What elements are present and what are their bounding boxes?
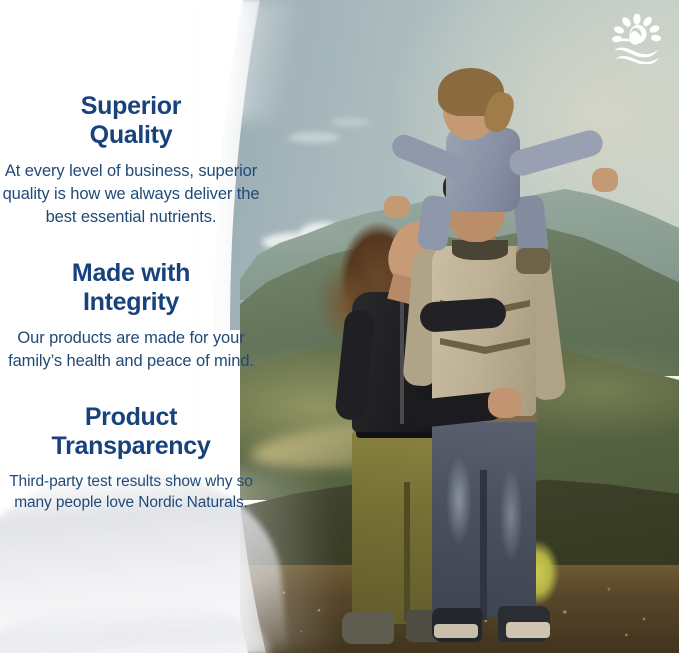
feature-heading-line2: Quality (90, 121, 173, 149)
father-shoe-left-sole (434, 624, 478, 638)
father-collar (452, 240, 508, 260)
child-hand-left (384, 196, 410, 218)
mother-hand (488, 388, 522, 418)
feature-heading-line2: Integrity (83, 288, 179, 316)
feature-body: At every level of business, superior qua… (0, 160, 262, 228)
mother-shoe-left (342, 612, 394, 644)
feature-heading: Product Transparency (0, 403, 262, 461)
feature-heading-line1: Made with (72, 259, 190, 287)
feature-heading: Made with Integrity (0, 259, 262, 317)
brand-feature-banner: Superior Quality At every level of busin… (0, 0, 679, 653)
feature-block-superior-quality: Superior Quality At every level of busin… (0, 92, 262, 228)
feature-heading-line2: Transparency (52, 432, 211, 460)
feature-body: Third-party test results show why so man… (0, 471, 262, 514)
feature-heading-line1: Superior (81, 92, 181, 120)
feature-text-column: Superior Quality At every level of busin… (0, 0, 262, 653)
feature-heading: Superior Quality (0, 92, 262, 150)
father-jeans-highlight (496, 450, 526, 580)
sun-wave-logo-icon (609, 14, 665, 64)
child-shoe (516, 248, 550, 274)
mother-pants-shadow (404, 482, 410, 622)
feature-block-product-transparency: Product Transparency Third-party test re… (0, 403, 262, 514)
mother-arm-upper (419, 297, 507, 333)
father-shoe-right-sole (506, 622, 550, 638)
cloud (330, 118, 370, 126)
feature-block-made-with-integrity: Made with Integrity Our products are mad… (0, 259, 262, 373)
cloud (288, 132, 340, 143)
child-hand-right (592, 168, 618, 192)
feature-heading-line1: Product (85, 403, 177, 431)
feature-body: Our products are made for your family’s … (0, 327, 262, 373)
father-jeans-highlight (444, 440, 474, 560)
father-jeans-shadow (480, 470, 487, 620)
